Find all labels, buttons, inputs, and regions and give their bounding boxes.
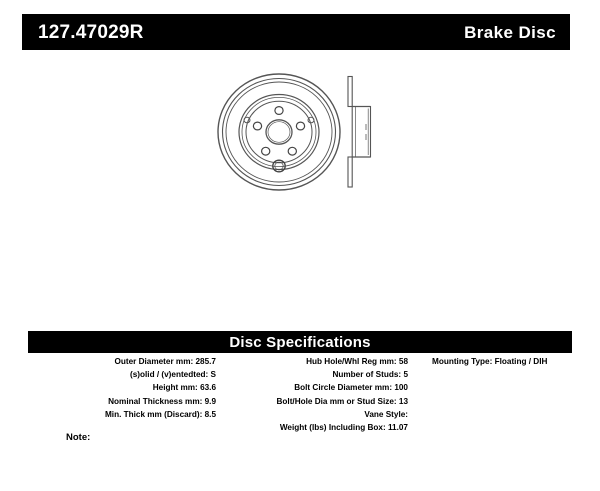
spec-row: Nominal Thickness mm: 9.9: [28, 395, 216, 408]
spec-row: Number of Studs: 5: [218, 368, 408, 381]
note-area: Note:: [66, 427, 466, 445]
spec-label: Hub Hole/Whl Reg mm:: [306, 357, 397, 366]
spec-value: 9.9: [205, 397, 216, 406]
spec-title: Disc Specifications: [229, 335, 370, 350]
spec-label: (s)olid / (v)entedted:: [130, 370, 208, 379]
product-image: [0, 62, 600, 212]
spec-label: Height mm:: [153, 383, 198, 392]
part-number: 127.47029R: [38, 23, 144, 42]
spec-label: Vane Style:: [364, 410, 408, 419]
spec-value: 63.6: [200, 383, 216, 392]
product-category: Brake Disc: [464, 24, 556, 41]
spec-label: Bolt Circle Diameter mm:: [294, 383, 392, 392]
spec-row: Height mm: 63.6: [28, 381, 216, 394]
spec-row: (s)olid / (v)entedted: S: [28, 368, 216, 381]
spec-title-bar: Disc Specifications: [28, 331, 572, 353]
spec-column-middle: Hub Hole/Whl Reg mm: 58 Number of Studs:…: [218, 355, 410, 434]
spec-column-left: Outer Diameter mm: 285.7 (s)olid / (v)en…: [28, 355, 218, 421]
spec-row: Bolt/Hole Dia mm or Stud Size: 13: [218, 395, 408, 408]
brake-rotor-illustration: [0, 62, 600, 212]
spec-value: 5: [403, 370, 408, 379]
spec-row: Mounting Type: Floating / DIH: [432, 355, 572, 368]
spec-label: Number of Studs:: [332, 370, 401, 379]
spec-label: Min. Thick mm (Discard):: [105, 410, 202, 419]
header-bar: 127.47029R Brake Disc: [22, 14, 570, 50]
spec-value: 13: [399, 397, 408, 406]
note-label: Note:: [66, 432, 90, 443]
spec-label: Outer Diameter mm:: [115, 357, 194, 366]
spec-label: Nominal Thickness mm:: [108, 397, 202, 406]
spec-column-right: Mounting Type: Floating / DIH: [410, 355, 572, 368]
spec-label: Mounting Type:: [432, 357, 492, 366]
rotor-outer-edge-top: [348, 77, 352, 107]
spec-row: Hub Hole/Whl Reg mm: 58: [218, 355, 408, 368]
spec-value: 100: [394, 383, 408, 392]
spec-row: Bolt Circle Diameter mm: 100: [218, 381, 408, 394]
spec-value: 285.7: [196, 357, 217, 366]
spec-columns: Outer Diameter mm: 285.7 (s)olid / (v)en…: [28, 355, 572, 434]
spec-value: 58: [399, 357, 408, 366]
spec-value: Floating / DIH: [495, 357, 548, 366]
rotor-side-profile-view: [348, 77, 371, 188]
rotor-outer-edge-bottom: [348, 157, 352, 187]
spec-label: Bolt/Hole Dia mm or Stud Size:: [277, 397, 397, 406]
spec-value: S: [211, 370, 216, 379]
spec-row: Vane Style:: [218, 408, 408, 421]
spec-value: 8.5: [205, 410, 216, 419]
spec-row: Outer Diameter mm: 285.7: [28, 355, 216, 368]
rotor-hat-body: [352, 107, 370, 158]
rotor-front-face-view: [218, 74, 340, 190]
spec-row: Min. Thick mm (Discard): 8.5: [28, 408, 216, 421]
